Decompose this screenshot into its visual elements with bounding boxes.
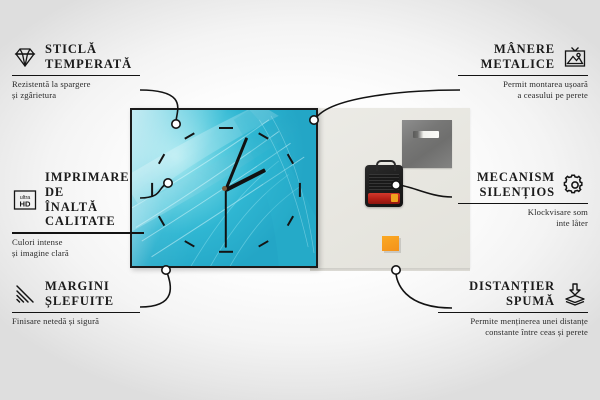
battery-terminal xyxy=(391,194,398,202)
callout-spacer-title-2: SPUMĂ xyxy=(469,294,555,309)
callout-spacer-head: DISTANȚIER SPUMĂ xyxy=(438,279,588,309)
callout-handles-rule xyxy=(458,75,588,77)
picture-frame-hanger-icon xyxy=(562,45,588,69)
callout-mechanism-title-1: MECANISM xyxy=(477,170,555,185)
clock-tick xyxy=(299,183,301,197)
battery xyxy=(368,193,400,204)
polished-edge-icon xyxy=(12,282,38,306)
callout-glass-sub-2: și zgârietura xyxy=(12,90,142,101)
callout-handles-head: MÂNERE METALICE xyxy=(458,42,588,72)
callout-mechanism-title-2: SILENȚIOS xyxy=(477,185,555,200)
callout-edges-rule xyxy=(12,312,140,314)
callout-print-head: ultra HD IMPRIMARE DE ÎNALTĂ CALITATE xyxy=(12,170,146,229)
svg-text:HD: HD xyxy=(20,199,31,208)
foam-spacer xyxy=(382,236,399,251)
clock-face xyxy=(130,108,318,268)
hanger-slot xyxy=(413,131,439,138)
callout-spacer: DISTANȚIER SPUMĂ Permite menținerea unei… xyxy=(438,279,588,338)
product-image xyxy=(130,108,470,268)
callout-glass-sub-1: Rezistentă la spargere xyxy=(12,79,142,90)
callout-mechanism-rule xyxy=(458,203,588,205)
gear-icon xyxy=(562,173,588,197)
callout-print-sub-1: Culori intense xyxy=(12,237,146,248)
callout-edges-sub-1: Finisare netedă și sigură xyxy=(12,316,142,327)
mechanism-ridges xyxy=(369,174,399,190)
foam-spacer-icon xyxy=(562,282,588,306)
callout-mechanism-head: MECANISM SILENȚIOS xyxy=(458,170,588,200)
wire-edges xyxy=(140,268,170,307)
callout-mechanism-sub-2: inte låter xyxy=(458,218,588,229)
callout-handles-title-2: METALICE xyxy=(481,57,555,72)
callout-edges-title-2: ȘLEFUITE xyxy=(45,294,114,309)
callout-glass-head: STICLĂ TEMPERATĂ xyxy=(12,42,142,72)
callout-print-rule xyxy=(12,232,144,234)
metal-hanger xyxy=(402,120,452,168)
callout-print-title-2: ÎNALTĂ CALITATE xyxy=(45,200,146,230)
clock-second-hand xyxy=(225,190,227,248)
clock-tick xyxy=(219,127,233,129)
clock-mechanism xyxy=(365,165,403,207)
callout-print: ultra HD IMPRIMARE DE ÎNALTĂ CALITATE Cu… xyxy=(12,170,146,259)
callout-print-title-1: IMPRIMARE DE xyxy=(45,170,146,200)
callout-mechanism: MECANISM SILENȚIOS Klockvisare som inte … xyxy=(458,170,588,229)
callout-spacer-sub-1: Permite menținerea unei distanțe xyxy=(438,316,588,327)
callout-edges: MARGINI ȘLEFUITE Finisare netedă și sigu… xyxy=(12,279,142,327)
callout-glass-rule xyxy=(12,75,140,77)
callout-handles-sub-1: Permit montarea ușoară xyxy=(458,79,588,90)
callout-edges-head: MARGINI ȘLEFUITE xyxy=(12,279,142,309)
clock-pivot xyxy=(222,186,227,191)
callout-handles: MÂNERE METALICE Permit montarea ușoară a… xyxy=(458,42,588,101)
callout-handles-sub-2: a ceasului pe perete xyxy=(458,90,588,101)
callout-spacer-title-1: DISTANȚIER xyxy=(469,279,555,294)
callout-spacer-sub-2: constante între ceas și perete xyxy=(438,327,588,338)
ultra-hd-icon: ultra HD xyxy=(12,188,38,212)
callout-mechanism-sub-1: Klockvisare som xyxy=(458,207,588,218)
clock-back-panel xyxy=(310,108,470,268)
callout-glass-title-2: TEMPERATĂ xyxy=(45,57,132,72)
clock-tick xyxy=(219,251,233,253)
diamond-icon xyxy=(12,45,38,69)
mechanism-loop xyxy=(376,160,396,171)
callout-glass: STICLĂ TEMPERATĂ Rezistentă la spargere … xyxy=(12,42,142,101)
callout-edges-title-1: MARGINI xyxy=(45,279,114,294)
clock-tick xyxy=(151,183,153,197)
callout-print-sub-2: și imagine clară xyxy=(12,248,146,259)
callout-spacer-rule xyxy=(438,312,588,314)
infographic-canvas: STICLĂ TEMPERATĂ Rezistentă la spargere … xyxy=(0,0,600,400)
callout-handles-title-1: MÂNERE xyxy=(481,42,555,57)
callout-glass-title-1: STICLĂ xyxy=(45,42,132,57)
